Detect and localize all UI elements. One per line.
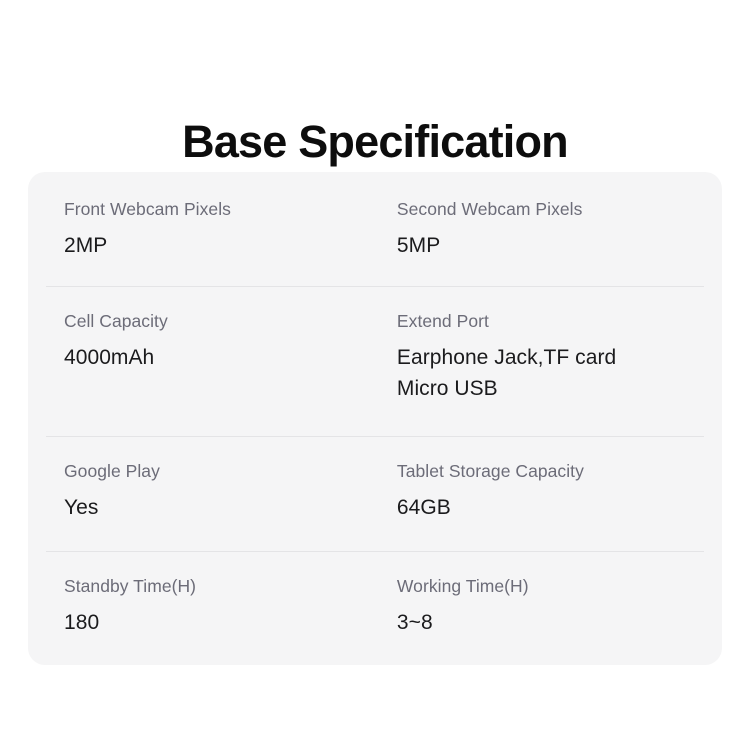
spec-value: 4000mAh bbox=[64, 342, 377, 373]
spec-item-working-time: Working Time(H) 3~8 bbox=[377, 575, 704, 638]
spec-row: Standby Time(H) 180 Working Time(H) 3~8 bbox=[46, 551, 704, 665]
spec-value: Yes bbox=[64, 492, 377, 523]
spec-value: 64GB bbox=[397, 492, 704, 523]
spec-label: Second Webcam Pixels bbox=[397, 198, 704, 220]
spec-row: Front Webcam Pixels 2MP Second Webcam Pi… bbox=[46, 172, 704, 286]
spec-value: 180 bbox=[64, 607, 377, 638]
spec-label: Cell Capacity bbox=[64, 310, 377, 332]
page-title: Base Specification bbox=[0, 114, 750, 170]
specification-card: Front Webcam Pixels 2MP Second Webcam Pi… bbox=[28, 172, 722, 665]
spec-item-front-webcam-pixels: Front Webcam Pixels 2MP bbox=[46, 198, 377, 261]
spec-label: Google Play bbox=[64, 460, 377, 482]
spec-row: Google Play Yes Tablet Storage Capacity … bbox=[46, 436, 704, 551]
spec-row: Cell Capacity 4000mAh Extend Port Earpho… bbox=[46, 286, 704, 436]
specification-row-list: Front Webcam Pixels 2MP Second Webcam Pi… bbox=[46, 172, 704, 665]
spec-label: Standby Time(H) bbox=[64, 575, 377, 597]
spec-label: Working Time(H) bbox=[397, 575, 704, 597]
spec-value: 2MP bbox=[64, 230, 377, 261]
spec-value: 3~8 bbox=[397, 607, 704, 638]
spec-label: Front Webcam Pixels bbox=[64, 198, 377, 220]
spec-label: Extend Port bbox=[397, 310, 704, 332]
spec-value: 5MP bbox=[397, 230, 704, 261]
spec-value: Earphone Jack,TF card Micro USB bbox=[397, 342, 704, 404]
spec-item-extend-port: Extend Port Earphone Jack,TF card Micro … bbox=[377, 310, 704, 404]
spec-page: Base Specification Front Webcam Pixels 2… bbox=[0, 0, 750, 750]
spec-item-standby-time: Standby Time(H) 180 bbox=[46, 575, 377, 638]
spec-item-google-play: Google Play Yes bbox=[46, 460, 377, 523]
spec-item-tablet-storage-capacity: Tablet Storage Capacity 64GB bbox=[377, 460, 704, 523]
spec-label: Tablet Storage Capacity bbox=[397, 460, 704, 482]
spec-item-cell-capacity: Cell Capacity 4000mAh bbox=[46, 310, 377, 373]
spec-item-second-webcam-pixels: Second Webcam Pixels 5MP bbox=[377, 198, 704, 261]
